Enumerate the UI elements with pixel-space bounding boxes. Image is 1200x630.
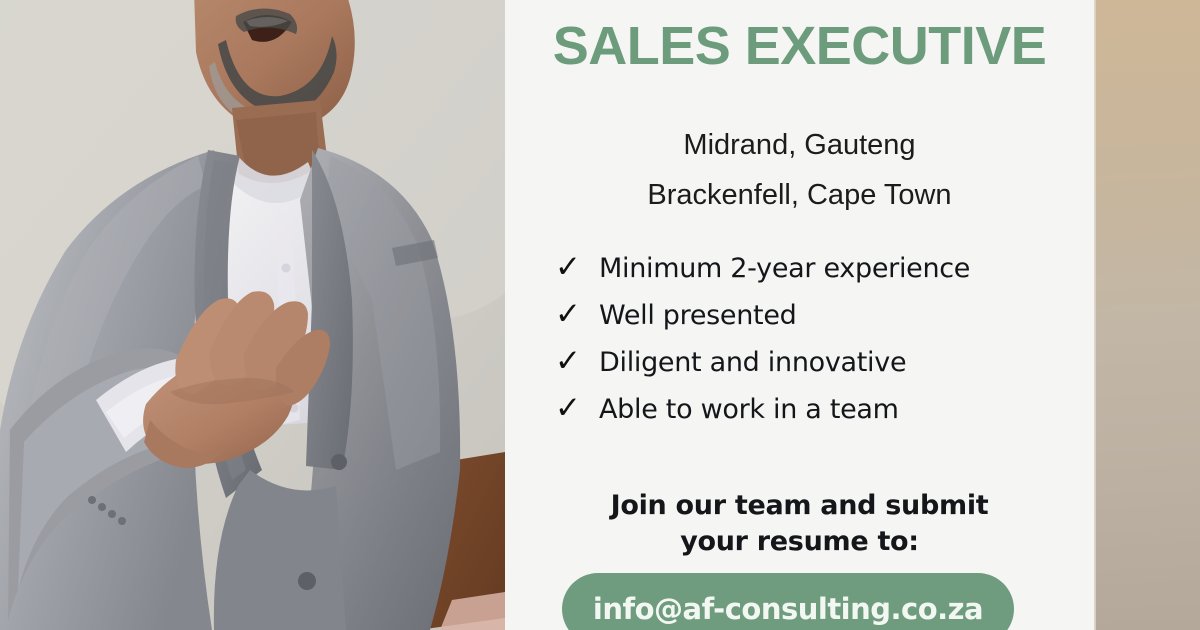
job-ad-poster: SALES EXECUTIVE Midrand, Gauteng Bracken…: [0, 0, 1200, 630]
check-icon: ✓: [555, 290, 599, 337]
check-icon: ✓: [555, 384, 599, 431]
strip-seam: [1094, 0, 1096, 630]
requirement-label: Able to work in a team: [599, 386, 899, 433]
photo-businessman: [0, 0, 505, 630]
locations-list: Midrand, Gauteng Brackenfell, Cape Town: [505, 120, 1094, 220]
requirement-label: Minimum 2-year experience: [599, 245, 970, 292]
requirement-label: Diligent and innovative: [599, 339, 906, 386]
list-item: ✓ Well presented: [555, 290, 1075, 337]
cta-line-2: your resume to:: [505, 524, 1094, 560]
list-item: ✓ Minimum 2-year experience: [555, 243, 1075, 290]
email-button[interactable]: info@af-consulting.co.za: [562, 573, 1014, 630]
list-item: ✓ Able to work in a team: [555, 384, 1075, 431]
page-title: SALES EXECUTIVE: [505, 17, 1094, 76]
right-edge-strip: [1094, 0, 1200, 630]
call-to-action-text: Join our team and submit your resume to:: [505, 488, 1094, 560]
location-line-2: Brackenfell, Cape Town: [505, 170, 1094, 220]
check-icon: ✓: [555, 337, 599, 384]
requirements-list: ✓ Minimum 2-year experience ✓ Well prese…: [555, 243, 1075, 431]
photo-illustration: [0, 0, 505, 630]
cta-line-1: Join our team and submit: [505, 488, 1094, 524]
check-icon: ✓: [555, 243, 599, 290]
requirement-label: Well presented: [599, 292, 797, 339]
list-item: ✓ Diligent and innovative: [555, 337, 1075, 384]
content-panel: SALES EXECUTIVE Midrand, Gauteng Bracken…: [505, 0, 1094, 630]
email-address: info@af-consulting.co.za: [593, 595, 983, 624]
location-line-1: Midrand, Gauteng: [505, 120, 1094, 170]
